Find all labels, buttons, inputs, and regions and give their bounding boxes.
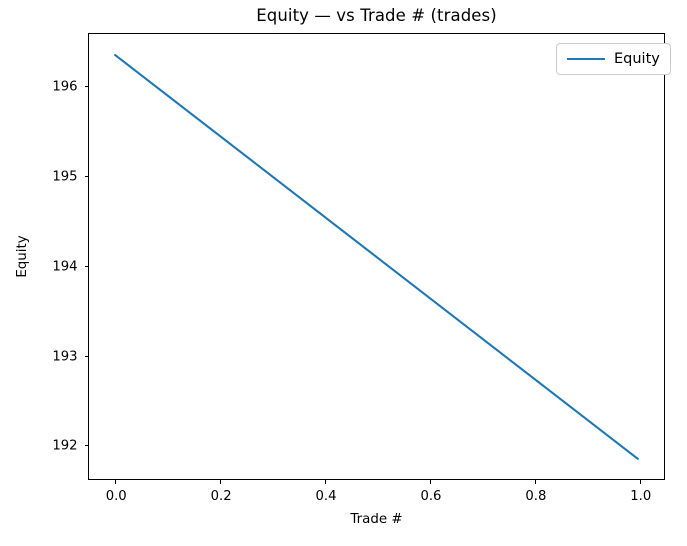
- y-axis-tick: 192: [85, 445, 90, 446]
- y-axis-tick-label: 196: [52, 79, 77, 94]
- series-line-equity: [115, 55, 638, 459]
- x-axis-tick: 1.0: [640, 479, 641, 484]
- y-axis-tick: 195: [85, 176, 90, 177]
- x-axis-tick: 0.0: [115, 479, 116, 484]
- legend: Equity: [556, 43, 671, 75]
- y-axis-tick-label: 193: [52, 349, 77, 364]
- x-axis-tick-label: 0.8: [525, 489, 546, 504]
- series-canvas: [89, 34, 664, 479]
- x-axis-tick-label: 1.0: [630, 489, 651, 504]
- x-axis-tick: 0.2: [220, 479, 221, 484]
- x-axis-tick-label: 0.6: [420, 489, 441, 504]
- plot-surface: [89, 34, 664, 479]
- y-axis-tick-label: 194: [52, 259, 77, 274]
- y-axis-tick-label: 192: [52, 439, 77, 454]
- x-axis-tick: 0.4: [325, 479, 326, 484]
- legend-label-equity: Equity: [614, 51, 660, 67]
- y-axis-tick-label: 195: [52, 169, 77, 184]
- y-axis-tick: 194: [85, 266, 90, 267]
- legend-line-swatch-equity: [567, 58, 605, 60]
- y-axis-tick: 193: [85, 356, 90, 357]
- x-axis-tick-label: 0.2: [211, 489, 232, 504]
- x-axis-tick-label: 0.4: [316, 489, 337, 504]
- x-axis-tick-label: 0.0: [106, 489, 127, 504]
- chart-figure: Equity — vs Trade # (trades) Equity 1921…: [0, 0, 687, 546]
- y-axis-label: Equity: [11, 33, 35, 480]
- x-axis-tick: 0.6: [430, 479, 431, 484]
- plot-area: 1921931941951960.00.20.40.60.81.0: [88, 33, 665, 480]
- page-title: Equity — vs Trade # (trades): [88, 6, 665, 25]
- y-axis-label-container: Equity: [0, 0, 30, 546]
- y-axis-tick: 196: [85, 86, 90, 87]
- x-axis-label: Trade #: [88, 512, 665, 527]
- x-axis-tick: 0.8: [535, 479, 536, 484]
